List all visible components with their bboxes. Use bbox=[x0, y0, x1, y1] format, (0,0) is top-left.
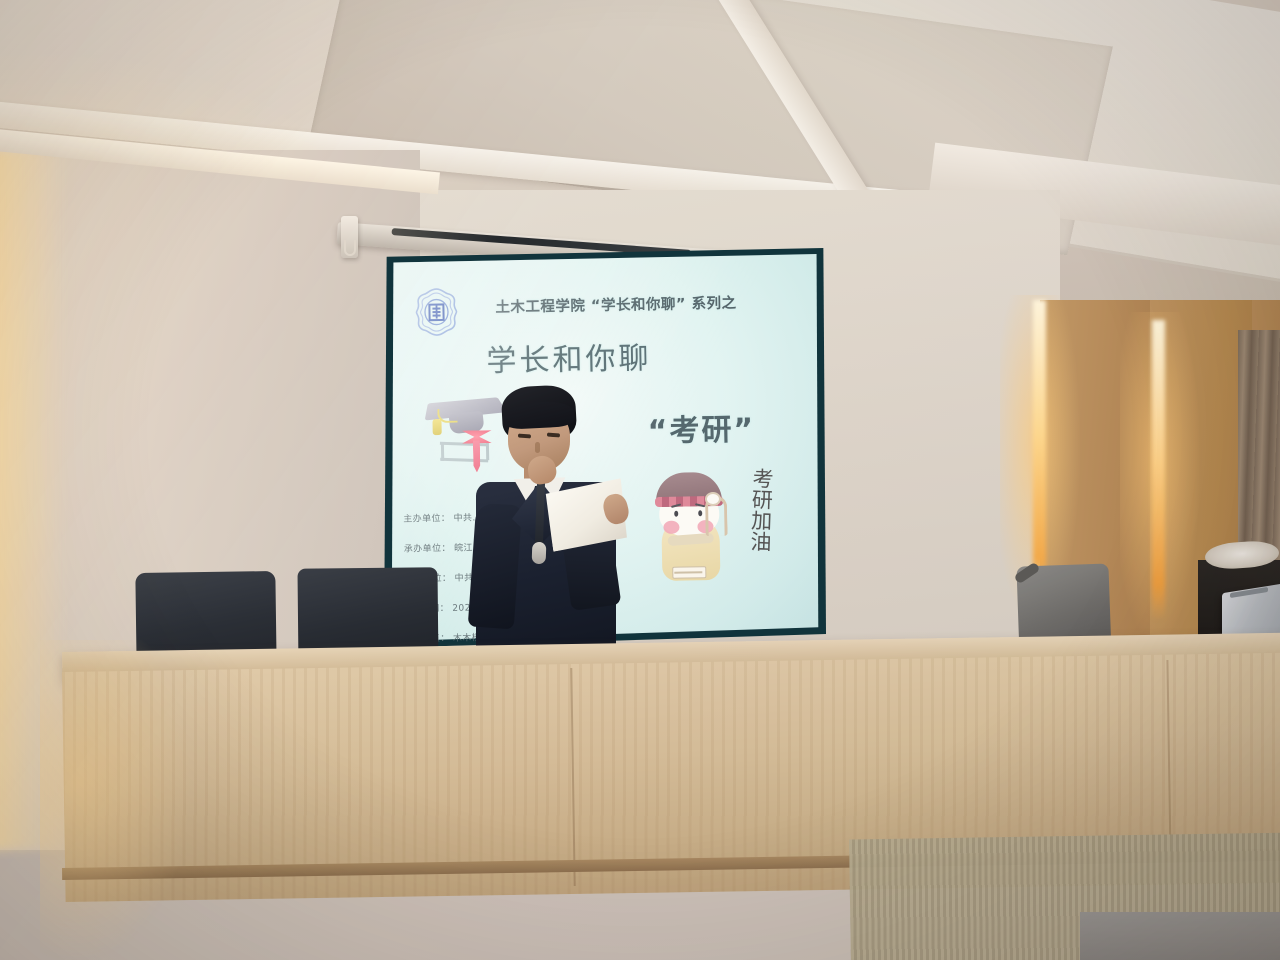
slide-keyword-text: “考研” bbox=[647, 404, 755, 450]
mascot-illustration: 考研加油 bbox=[642, 462, 740, 592]
mascot-eye-right bbox=[698, 510, 702, 516]
cap-stand-leg-left bbox=[441, 443, 444, 461]
screen-mount-hook bbox=[344, 240, 356, 256]
slide-title-text: 学长和你聊 bbox=[486, 333, 652, 380]
student-speaker bbox=[452, 386, 632, 666]
mascot-cheer-text: 考研加油 bbox=[725, 467, 775, 586]
led-light-strip-2 bbox=[1152, 320, 1165, 620]
speaker-nose bbox=[535, 442, 540, 453]
led-light-strip-1 bbox=[1033, 300, 1046, 600]
speaker-arm-left bbox=[468, 503, 523, 630]
floor bbox=[1080, 912, 1280, 960]
mascot-eye-left bbox=[674, 511, 678, 517]
slide-header-text: 土木工程学院 “学长和你聊” 系列之 bbox=[495, 292, 737, 317]
lecture-hall-photo: 土木工程学院 “学长和你聊” 系列之 学长和你聊 “考研” bbox=[0, 0, 1280, 960]
microphone-head bbox=[532, 542, 547, 564]
university-seal-icon bbox=[413, 287, 460, 338]
cap-tassel bbox=[432, 419, 441, 435]
podium-warm-light bbox=[40, 640, 190, 960]
